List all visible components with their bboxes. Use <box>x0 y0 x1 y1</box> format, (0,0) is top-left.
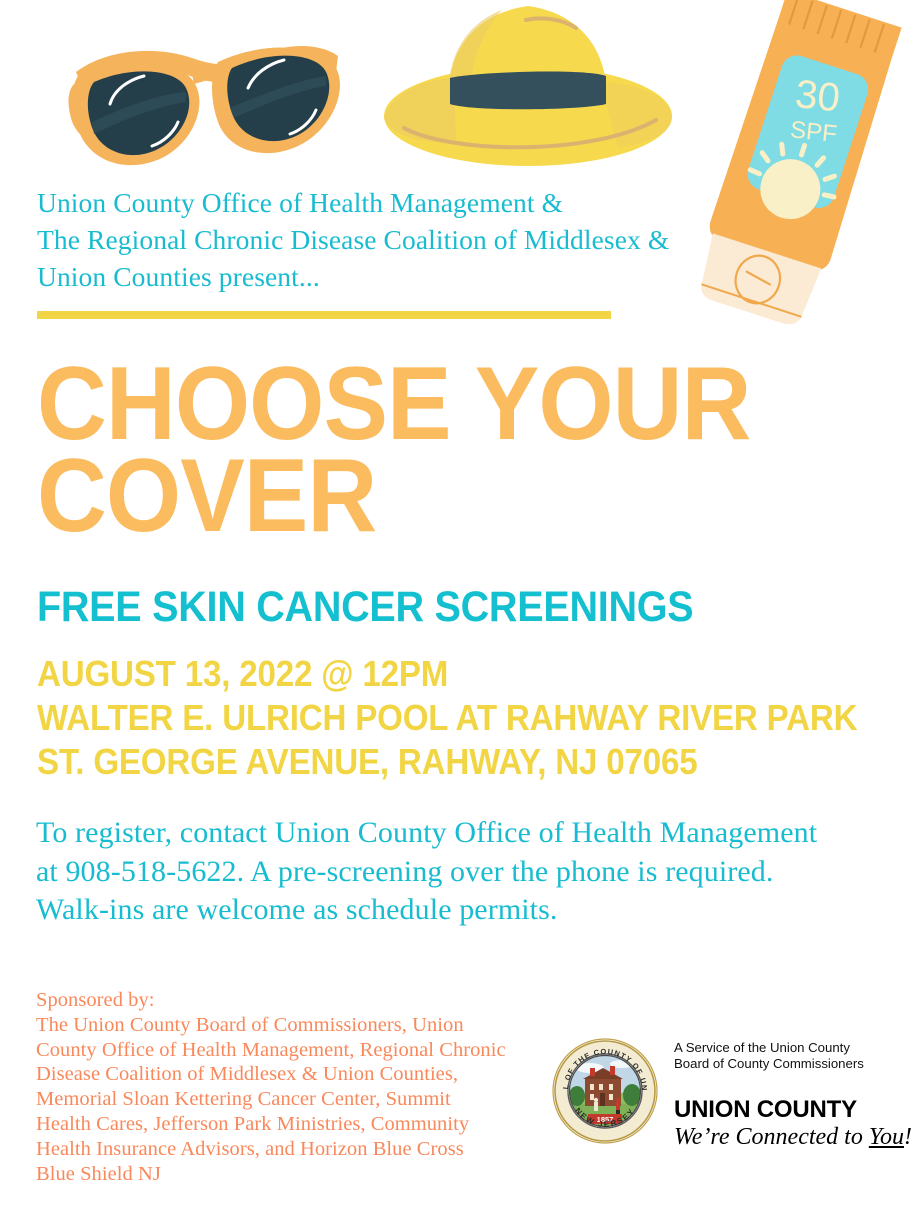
sunglasses-icon <box>52 18 352 183</box>
event-date-time: AUGUST 13, 2022 @ 12PM <box>37 652 857 696</box>
event-details: AUGUST 13, 2022 @ 12PM WALTER E. ULRICH … <box>37 652 857 784</box>
sponsors-heading: Sponsored by: <box>36 988 506 1013</box>
logo-service-line-1: A Service of the Union County <box>674 1040 900 1056</box>
sponsors-block: Sponsored by: The Union County Board of … <box>36 988 506 1186</box>
tagline-pre: We’re Connected to <box>674 1124 869 1150</box>
subheadline: FREE SKIN CANCER SCREENINGS <box>37 583 693 631</box>
presenter-line-1: Union County Office of Health Management… <box>37 184 777 221</box>
county-seal-icon: 1857 SEAL OF THE COUNTY OF UNION NEW JER… <box>552 1038 658 1144</box>
presenter-line-2: The Regional Chronic Disease Coalition o… <box>37 221 777 258</box>
logo-wordmark: UNION COUNTY <box>674 1096 900 1123</box>
svg-text:SPF: SPF <box>789 116 838 148</box>
logo-service-line-2: Board of County Commissioners <box>674 1056 900 1072</box>
tagline-post: ! <box>904 1124 912 1150</box>
event-venue: WALTER E. ULRICH POOL AT RAHWAY RIVER PA… <box>37 696 857 740</box>
presenter-block: Union County Office of Health Management… <box>37 184 777 295</box>
presenter-line-3: Union Counties present... <box>37 258 777 295</box>
yellow-divider <box>37 311 611 319</box>
logo-service-line: A Service of the Union County Board of C… <box>674 1040 900 1073</box>
tagline-underlined: You <box>869 1124 904 1150</box>
sun-hat-icon <box>378 0 678 177</box>
headline-line-1: CHOOSE YOUR <box>37 358 800 450</box>
logo-text-block: A Service of the Union County Board of C… <box>674 1040 900 1151</box>
registration-text: To register, contact Union County Office… <box>36 814 826 930</box>
svg-text:30: 30 <box>793 72 842 120</box>
sponsors-list: The Union County Board of Commissioners,… <box>36 1013 506 1187</box>
logo-tagline: We’re Connected to You! <box>674 1123 900 1151</box>
flyer-page: 30 SPF Union County Office of Health Man… <box>0 0 916 1220</box>
headline-line-2: COVER <box>37 450 800 542</box>
page-title: CHOOSE YOUR COVER <box>37 358 800 542</box>
union-county-logo: 1857 SEAL OF THE COUNTY OF UNION NEW JER… <box>552 1038 900 1156</box>
event-address: ST. GEORGE AVENUE, RAHWAY, NJ 07065 <box>37 740 857 784</box>
